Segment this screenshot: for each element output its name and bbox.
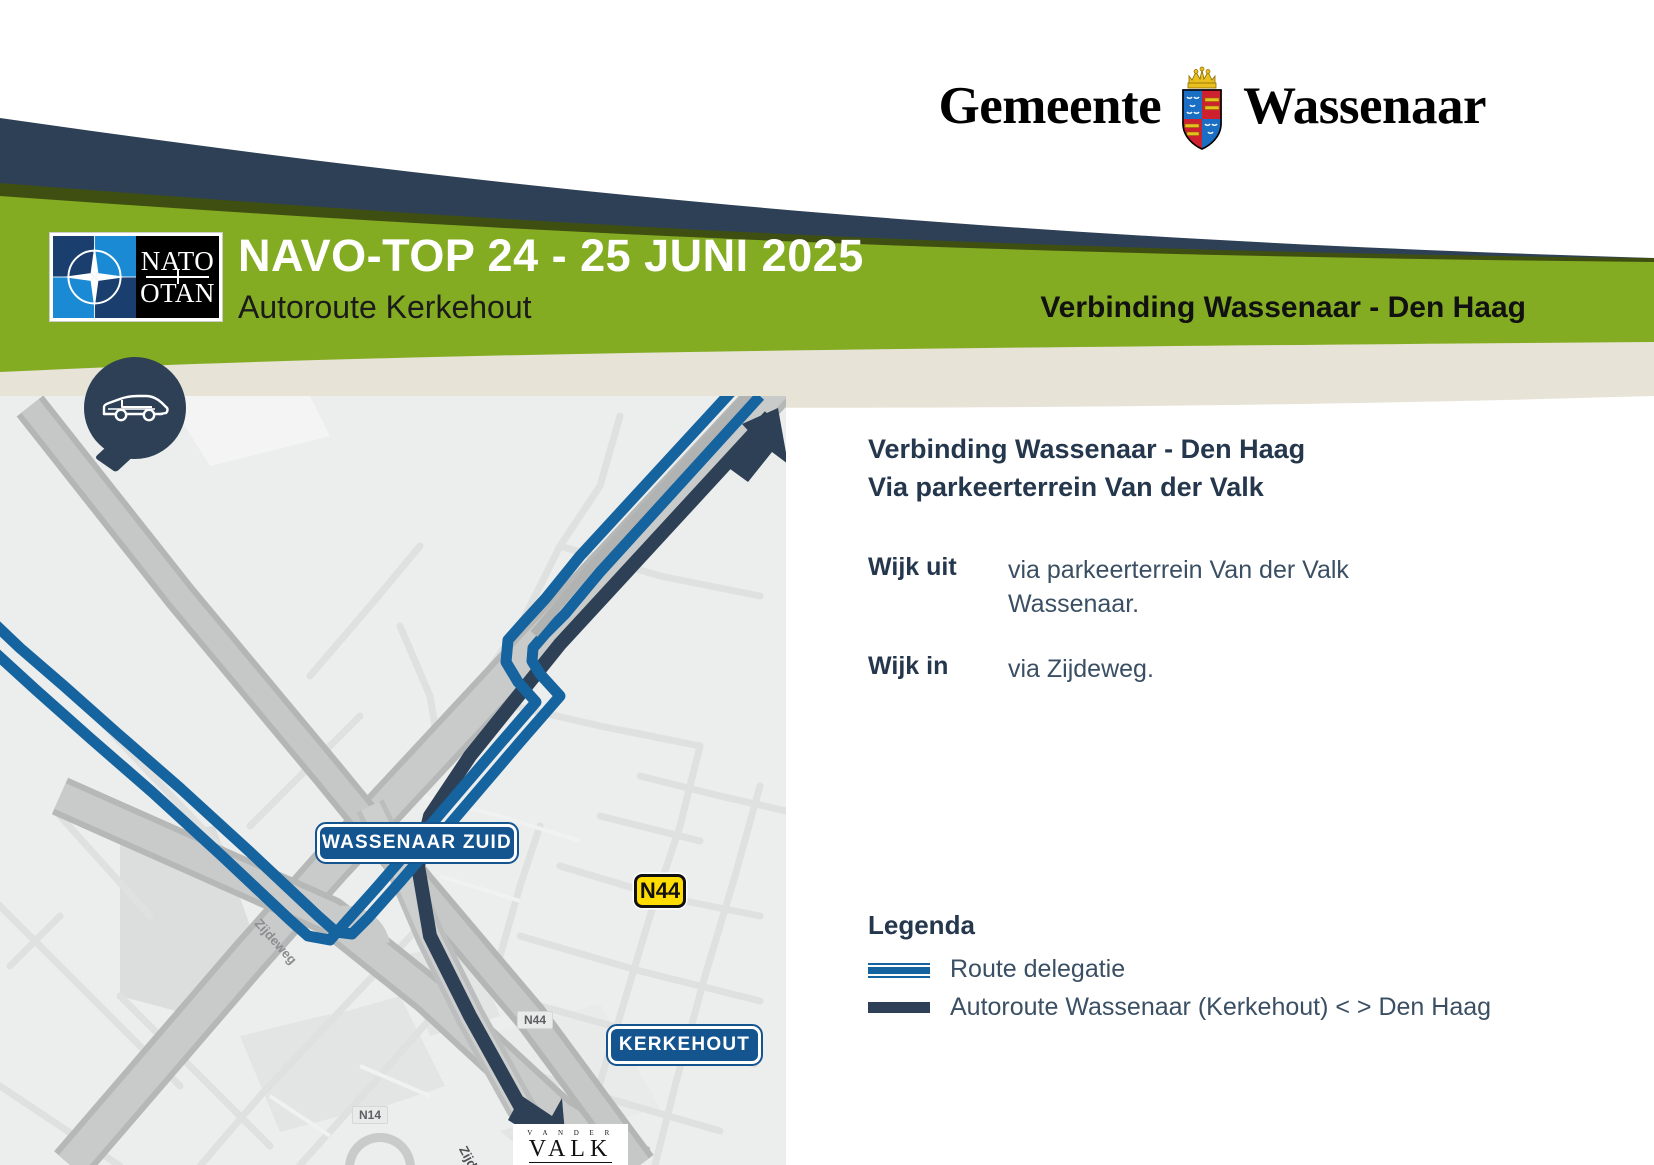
logo-word-wassenaar: Wassenaar (1243, 80, 1486, 133)
logo-word-gemeente: Gemeente (939, 80, 1162, 133)
inline-shield-n44: N44 (517, 1011, 553, 1029)
panel-title-line1: Verbinding Wassenaar - Den Haag (868, 430, 1628, 468)
panel-title: Verbinding Wassenaar - Den Haag Via park… (868, 430, 1628, 507)
event-banner: NATO OTAN NAVO-TOP 24 - 25 JUNI 2025 Aut… (0, 205, 1654, 345)
wassenaar-coat-of-arms-icon (1171, 62, 1233, 150)
info-panel: Verbinding Wassenaar - Den Haag Via park… (868, 430, 1628, 716)
legend-item-autoroute: Autoroute Wassenaar (Kerkehout) < > Den … (868, 993, 1638, 1022)
panel-title-line2: Via parkeerterrein Van der Valk (868, 468, 1628, 506)
gemeente-wassenaar-logo: Gemeente (939, 62, 1486, 150)
wijk-instructions: Wijk uit via parkeerterrein Van der Valk… (868, 553, 1628, 687)
wijk-in-label: Wijk in (868, 652, 1008, 687)
banner-right-text: Verbinding Wassenaar - Den Haag (1040, 291, 1526, 324)
wijk-uit-label: Wijk uit (868, 553, 1008, 622)
wijk-uit-row: Wijk uit via parkeerterrein Van der Valk… (868, 553, 1628, 622)
car-route-badge (84, 357, 186, 459)
legend-title: Legenda (868, 910, 1638, 941)
road-shield-n44-north: N44 (634, 874, 686, 908)
legend: Legenda Route delegatie Autoroute Wassen… (868, 910, 1638, 1031)
legend-swatch-navy-line-icon (868, 1002, 930, 1013)
banner-title: NAVO-TOP 24 - 25 JUNI 2025 (238, 232, 864, 279)
banner-subtitle: Autoroute Kerkehout (238, 290, 532, 325)
map-badge-wassenaar-zuid[interactable]: WASSENAAR ZUID (317, 824, 517, 862)
legend-item-route-delegatie: Route delegatie (868, 955, 1638, 984)
wijk-in-row: Wijk in via Zijdeweg. (868, 652, 1628, 687)
map-badge-kerkehout[interactable]: KERKEHOUT (608, 1026, 761, 1064)
poi-van-der-valk-logo: V A N D E R VALK HOTELS & RESTAURANTS (513, 1124, 628, 1165)
nato-logo: NATO OTAN (50, 233, 222, 321)
valk-main-text: VALK (529, 1137, 613, 1163)
legend-label-autoroute: Autoroute Wassenaar (Kerkehout) < > Den … (950, 993, 1491, 1022)
nato-divider (146, 276, 209, 278)
car-icon (100, 390, 170, 426)
nato-wordmark: NATO OTAN (136, 236, 219, 318)
route-map[interactable]: WASSENAAR ZUID KERKEHOUT N44 N14 N44 Ric… (0, 396, 786, 1165)
infographic-page: Gemeente (0, 0, 1654, 1165)
legend-label-route-delegatie: Route delegatie (950, 955, 1125, 984)
wijk-uit-text: via parkeerterrein Van der Valk Wassenaa… (1008, 553, 1438, 622)
wijk-in-text: via Zijdeweg. (1008, 652, 1154, 687)
nato-emblem-icon (53, 236, 136, 318)
legend-swatch-blue-double-line-icon (868, 962, 930, 978)
inline-shield-n14: N14 (352, 1106, 388, 1124)
